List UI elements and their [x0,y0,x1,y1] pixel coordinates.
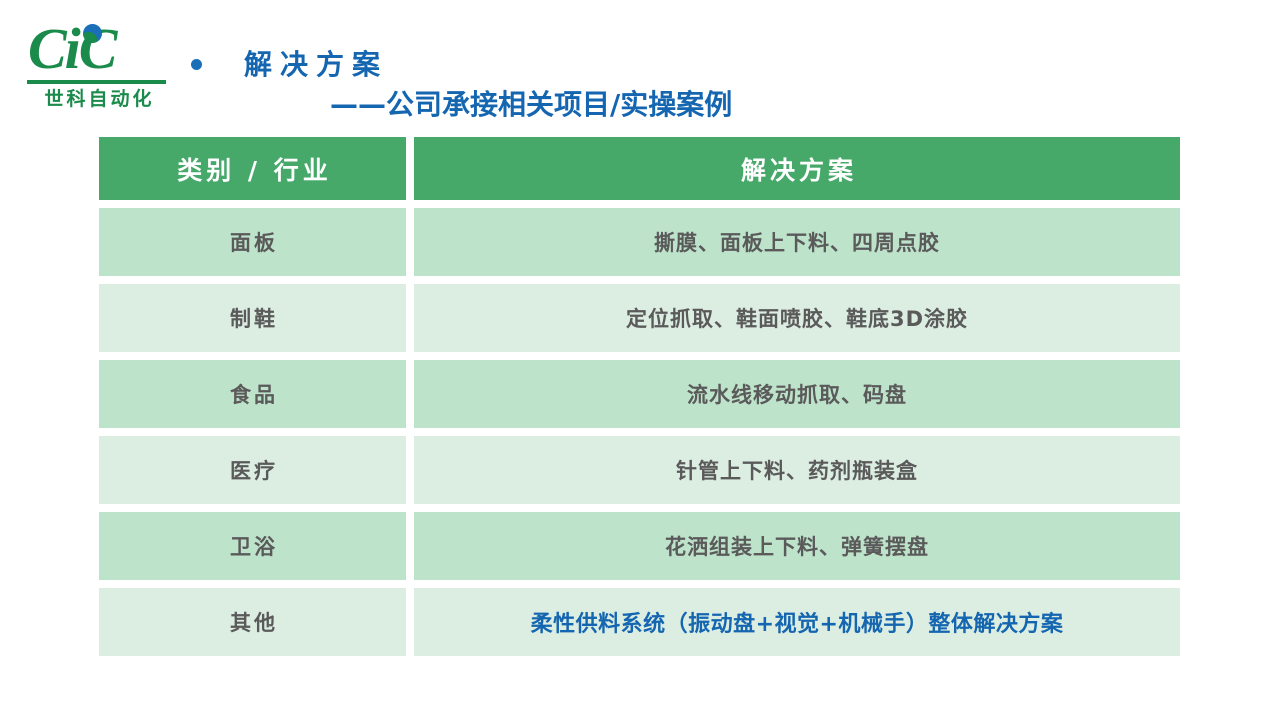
cell-solution: 花洒组装上下料、弹簧摆盘 [414,512,1180,580]
table-row[interactable]: 其他 柔性供料系统（振动盘+视觉+机械手）整体解决方案 [99,588,1180,656]
cell-solution: 撕膜、面板上下料、四周点胶 [414,208,1180,276]
table-row[interactable]: 面板 撕膜、面板上下料、四周点胶 [99,208,1180,276]
cell-category: 其他 [99,588,406,656]
slide-canvas: CiC 世科自动化 解决方案 ——公司承接相关项目/实操案例 类别 / 行业 解… [0,0,1280,720]
cell-solution-text: 撕膜、面板上下料、四周点胶 [654,227,940,257]
logo-company-name: 世科自动化 [27,86,169,112]
cell-category-text: 制鞋 [227,303,278,333]
cell-solution-text: 柔性供料系统（振动盘+视觉+机械手）整体解决方案 [531,606,1064,638]
cell-solution: 流水线移动抓取、码盘 [414,360,1180,428]
logo-divider-rule [27,80,166,84]
logo-wordmark: CiC [28,18,116,80]
cell-solution-text: 花洒组装上下料、弹簧摆盘 [665,531,929,561]
bullet-dot-icon [191,59,202,70]
cell-category: 卫浴 [99,512,406,580]
cell-solution: 柔性供料系统（振动盘+视觉+机械手）整体解决方案 [414,588,1180,656]
cell-solution: 针管上下料、药剂瓶装盒 [414,436,1180,504]
company-logo: CiC 世科自动化 [22,22,172,114]
cell-category: 食品 [99,360,406,428]
table-row[interactable]: 医疗 针管上下料、药剂瓶装盒 [99,436,1180,504]
logo-mark: CiC [22,22,172,82]
cell-solution: 定位抓取、鞋面喷胶、鞋底3D涂胶 [414,284,1180,352]
solutions-table: 类别 / 行业 解决方案 面板 撕膜、面板上下料、四周点胶 制鞋 定位抓取、鞋面… [99,137,1180,656]
column-header-category: 类别 / 行业 [99,137,406,200]
cell-solution-text: 定位抓取、鞋面喷胶、鞋底3D涂胶 [626,303,968,333]
table-row[interactable]: 卫浴 花洒组装上下料、弹簧摆盘 [99,512,1180,580]
cell-category-text: 医疗 [227,455,278,485]
cell-category-text: 食品 [227,379,278,409]
cell-category: 医疗 [99,436,406,504]
cell-category-text: 面板 [227,227,278,257]
table-row[interactable]: 食品 流水线移动抓取、码盘 [99,360,1180,428]
cell-solution-text: 针管上下料、药剂瓶装盒 [676,455,918,485]
page-title: 解决方案 [244,46,388,84]
cell-solution-text: 流水线移动抓取、码盘 [687,379,907,409]
page-subtitle: ——公司承接相关项目/实操案例 [330,86,732,124]
column-header-solution: 解决方案 [414,137,1180,200]
cell-category: 制鞋 [99,284,406,352]
cell-category: 面板 [99,208,406,276]
table-row[interactable]: 制鞋 定位抓取、鞋面喷胶、鞋底3D涂胶 [99,284,1180,352]
cell-category-text: 其他 [227,607,278,637]
table-header-row: 类别 / 行业 解决方案 [99,137,1180,200]
logo-globe-icon [83,24,102,43]
cell-category-text: 卫浴 [227,531,278,561]
